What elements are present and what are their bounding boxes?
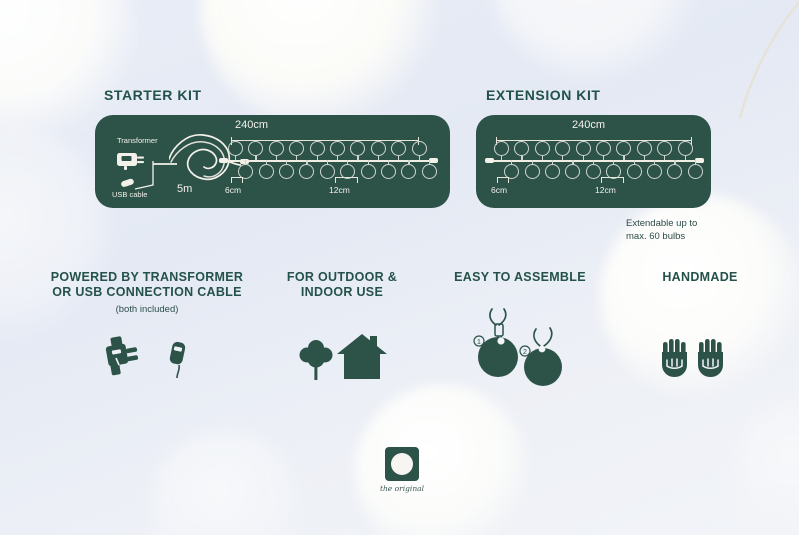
brand-logo-mark (385, 447, 419, 481)
bulb-stem (245, 160, 246, 165)
feature-outdoor-indoor-line1: FOR OUTDOOR & (262, 270, 422, 285)
bulb-stem (644, 155, 645, 160)
bulb-spacing-dimension-line (335, 177, 358, 178)
feature-outdoor-indoor-title: FOR OUTDOOR & INDOOR USE (262, 270, 422, 300)
bulb-stem (521, 155, 522, 160)
bulb-stem (419, 155, 420, 160)
bulb-top (412, 141, 427, 156)
feature-easy-assemble-line1: EASY TO ASSEMBLE (440, 270, 600, 285)
bulb-top (248, 141, 263, 156)
bulb-stem (266, 160, 267, 165)
string-length-label: 240cm (235, 119, 268, 131)
bulb-stem (408, 160, 409, 165)
bulb-stem (337, 155, 338, 160)
bulb-bottom (586, 164, 601, 179)
end-spacing-label: 6cm (225, 185, 241, 195)
feature-easy-assemble-title: EASY TO ASSEMBLE (440, 270, 600, 285)
bulb-bottom (667, 164, 682, 179)
bulb-top (350, 141, 365, 156)
bulb-stem (398, 155, 399, 160)
bulb-stem (357, 155, 358, 160)
feature-outdoor-indoor-line2: INDOOR USE (262, 285, 422, 300)
bulb-top (330, 141, 345, 156)
bulb-top (371, 141, 386, 156)
bulb-stem (603, 155, 604, 160)
bulb-bottom (361, 164, 376, 179)
bulb-top (289, 141, 304, 156)
extension-string-left-tip (485, 158, 494, 163)
extension-kit-card: 240cm 6cm 12cm (476, 115, 711, 208)
cable-length-label: 5m (177, 183, 192, 195)
bulb-bottom (259, 164, 274, 179)
transformer-plug-icon (102, 336, 150, 378)
bulb-top (310, 141, 325, 156)
bulb-top (391, 141, 406, 156)
feature-handmade-line1: HANDMADE (620, 270, 780, 285)
extendable-note-line1: Extendable up to (626, 217, 697, 230)
right-hand-icon (694, 336, 728, 380)
bulb-stem (276, 155, 277, 160)
tree-icon (298, 337, 334, 380)
extension-end-spacing-label: 6cm (491, 185, 507, 195)
bulb-bottom (627, 164, 642, 179)
bulb-top (494, 141, 509, 156)
string-right-tip (429, 158, 438, 163)
bulb-top (657, 141, 672, 156)
bulb-bottom (320, 164, 335, 179)
bulb-top (576, 141, 591, 156)
bulb-spacing-label: 12cm (329, 185, 350, 195)
bulb-top (535, 141, 550, 156)
step-number-2: 2 (523, 349, 527, 356)
infographic-canvas: STARTER KIT Transformer USB cable (0, 0, 799, 535)
end-spacing-dimension-line (231, 177, 243, 178)
starter-kit-card: Transformer USB cable 5m (95, 115, 450, 208)
extension-bulb-spacing-line (601, 177, 624, 178)
bulb-stem (286, 160, 287, 165)
bulb-top (596, 141, 611, 156)
bulb-top (637, 141, 652, 156)
bulb-stem (388, 160, 389, 165)
string-left-tip (219, 158, 228, 163)
extension-string-length-label: 240cm (572, 119, 605, 131)
bulb-stem (255, 155, 256, 160)
feature-powered-by-title: POWERED BY TRANSFORMER OR USB CONNECTION… (27, 270, 267, 300)
logo-circle (391, 453, 413, 475)
bulb-stem (429, 160, 430, 165)
bulb-stem (562, 155, 563, 160)
bulb-top (616, 141, 631, 156)
bulb-stem (235, 155, 236, 160)
bulb-stem (613, 160, 614, 165)
bulb-stem (654, 160, 655, 165)
usb-plug-icon (164, 340, 194, 380)
bulb-stem (583, 155, 584, 160)
bulb-stem (634, 160, 635, 165)
starter-kit-title: STARTER KIT (104, 87, 202, 103)
bulb-stem (623, 155, 624, 160)
bulb-stem (685, 155, 686, 160)
bulb-top (269, 141, 284, 156)
bulb-stem (378, 155, 379, 160)
step-number-1: 1 (477, 339, 481, 346)
extendable-note-line2: max. 60 bulbs (626, 230, 697, 243)
bulb-top (678, 141, 693, 156)
feature-powered-by-line2: OR USB CONNECTION CABLE (27, 285, 267, 300)
extension-bulb-spacing-label: 12cm (595, 185, 616, 195)
bulb-bottom (647, 164, 662, 179)
bulb-bottom (545, 164, 560, 179)
bulb-bottom (565, 164, 580, 179)
bulb-bottom (525, 164, 540, 179)
bulb-stem (327, 160, 328, 165)
bulb-bottom (401, 164, 416, 179)
bulb-stem (552, 160, 553, 165)
extendable-note: Extendable up to max. 60 bulbs (626, 217, 697, 243)
bulb-stem (317, 155, 318, 160)
bulb-top (228, 141, 243, 156)
feature-handmade-title: HANDMADE (620, 270, 780, 285)
bulb-stem (572, 160, 573, 165)
bulb-stem (306, 160, 307, 165)
bulb-bottom (299, 164, 314, 179)
bulb-top (514, 141, 529, 156)
bulb-stem (511, 160, 512, 165)
logo-tagline: the original (362, 484, 442, 493)
bulb-stem (664, 155, 665, 160)
usb-cable-label: USB cable (112, 190, 147, 199)
bulb-stem (542, 155, 543, 160)
left-hand-icon (658, 336, 692, 380)
bulb-stem (674, 160, 675, 165)
bulb-stem (593, 160, 594, 165)
bulb-stem (296, 155, 297, 160)
bulb-bottom (688, 164, 703, 179)
usb-plug-icon (120, 177, 140, 191)
string-length-dimension-line (231, 140, 419, 141)
feature-powered-by-line1: POWERED BY TRANSFORMER (27, 270, 267, 285)
bulb-bottom (381, 164, 396, 179)
bulb-step-2-icon: 2 (512, 325, 574, 387)
feature-powered-by-sub: (both included) (27, 304, 267, 315)
bulb-bottom (279, 164, 294, 179)
bulb-bottom (422, 164, 437, 179)
bulb-stem (501, 155, 502, 160)
bulb-stem (695, 160, 696, 165)
transformer-label: Transformer (117, 136, 158, 145)
bulb-top (555, 141, 570, 156)
extension-string-right-tip (695, 158, 704, 163)
house-icon (336, 332, 388, 380)
extension-end-spacing-line (497, 177, 509, 178)
bulb-stem (532, 160, 533, 165)
bulb-stem (368, 160, 369, 165)
extension-kit-title: EXTENSION KIT (486, 87, 601, 103)
bulb-stem (347, 160, 348, 165)
